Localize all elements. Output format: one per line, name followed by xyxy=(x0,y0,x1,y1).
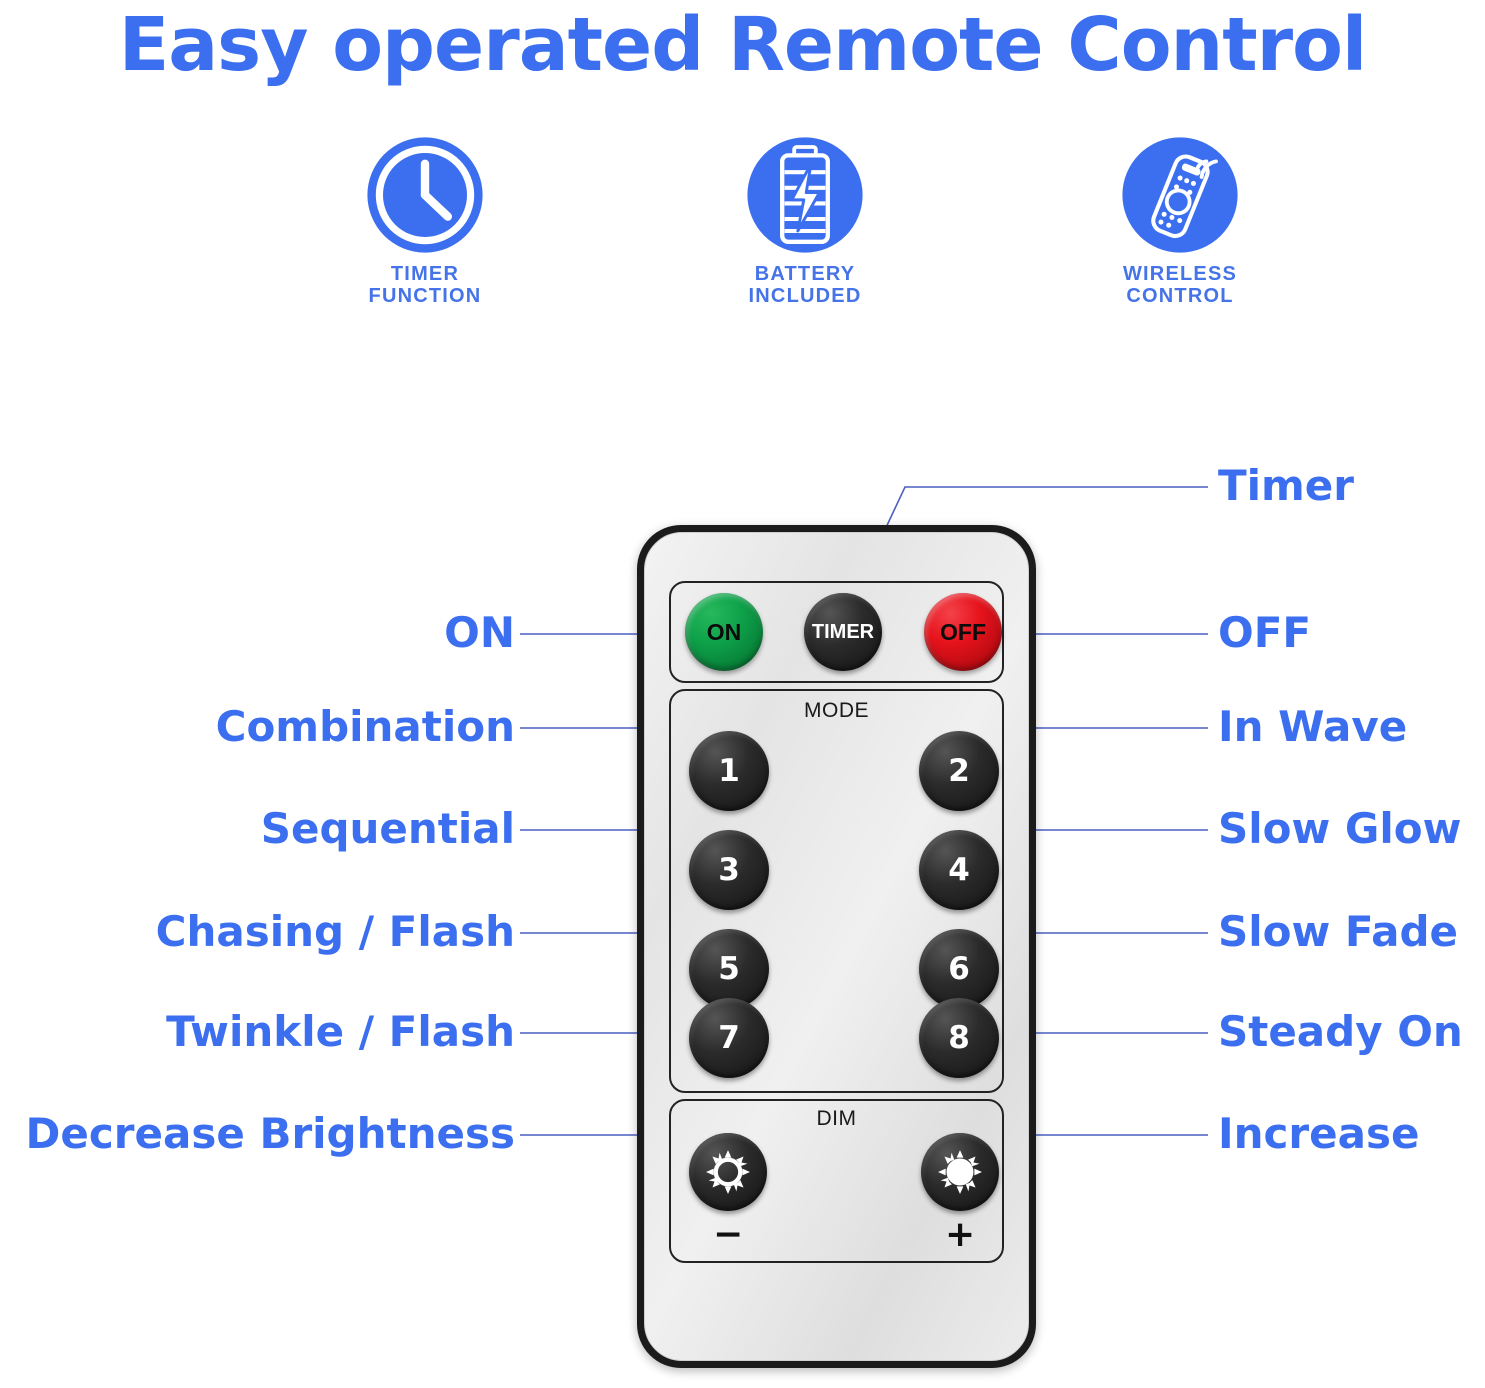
callout-chasing-flash: Chasing / Flash xyxy=(20,911,515,953)
callout-sequential: Sequential xyxy=(20,808,515,850)
remote-icon xyxy=(1120,135,1240,255)
feature-timer-line1: TIMER xyxy=(391,263,459,285)
increase-brightness-button[interactable] xyxy=(921,1133,999,1211)
feature-wireless-line2: CONTROL xyxy=(1126,285,1233,307)
feature-timer-label: TIMER FUNCTION xyxy=(275,263,575,308)
infographic-canvas: Easy operated Remote Control TIMER FUNCT… xyxy=(0,0,1485,1388)
callout-in-wave: In Wave xyxy=(1218,706,1407,748)
battery-icon xyxy=(745,135,865,255)
remote-control: ON TIMER OFF MODE 1 2 3 4 xyxy=(637,525,1036,1368)
mode-button-1-label: 1 xyxy=(718,753,740,789)
decrease-brightness-button[interactable] xyxy=(689,1133,767,1211)
dim-panel: DIM xyxy=(669,1099,1004,1263)
callout-on: ON xyxy=(20,612,515,654)
callout-twinkle-flash: Twinkle / Flash xyxy=(20,1011,515,1053)
power-panel: ON TIMER OFF xyxy=(669,581,1004,683)
mode-button-5-label: 5 xyxy=(718,951,740,987)
feature-timer-line2: FUNCTION xyxy=(369,285,482,307)
callout-increase: Increase xyxy=(1218,1113,1419,1155)
feature-battery-included: BATTERY INCLUDED xyxy=(655,135,955,308)
decrease-sign: − xyxy=(713,1217,743,1253)
mode-panel: MODE 1 2 3 4 5 6 7 8 xyxy=(669,689,1004,1093)
mode-button-3-label: 3 xyxy=(718,852,740,888)
callout-decrease-brightness: Decrease Brightness xyxy=(0,1113,515,1155)
feature-wireless-line1: WIRELESS xyxy=(1123,263,1237,285)
callout-off: OFF xyxy=(1218,612,1311,654)
callout-combination: Combination xyxy=(20,706,515,748)
callout-slow-glow: Slow Glow xyxy=(1218,808,1461,850)
remote-faceplate: ON TIMER OFF MODE 1 2 3 4 xyxy=(644,532,1029,1361)
feature-timer-function: TIMER FUNCTION xyxy=(275,135,575,308)
dim-signs: − + xyxy=(671,1217,1002,1251)
on-button-label: ON xyxy=(707,619,742,646)
mode-button-4[interactable]: 4 xyxy=(919,830,999,910)
off-button-label: OFF xyxy=(940,619,986,646)
mode-button-7[interactable]: 7 xyxy=(689,998,769,1078)
mode-button-3[interactable]: 3 xyxy=(689,830,769,910)
increase-sign: + xyxy=(945,1217,975,1253)
sun-bright-icon xyxy=(933,1145,987,1199)
sun-dim-icon xyxy=(701,1145,755,1199)
mode-button-8-label: 8 xyxy=(948,1020,970,1056)
mode-caption: MODE xyxy=(671,699,1002,723)
timer-button-label: TIMER xyxy=(812,621,874,644)
mode-button-2-label: 2 xyxy=(948,753,970,789)
mode-button-6[interactable]: 6 xyxy=(919,929,999,1009)
callout-timer: Timer xyxy=(1218,465,1354,507)
mode-button-6-label: 6 xyxy=(948,951,970,987)
dim-caption: DIM xyxy=(671,1107,1002,1131)
feature-battery-line1: BATTERY xyxy=(755,263,856,285)
mode-button-4-label: 4 xyxy=(948,852,970,888)
mode-button-7-label: 7 xyxy=(718,1020,740,1056)
feature-wireless-label: WIRELESS CONTROL xyxy=(1030,263,1330,308)
mode-button-2[interactable]: 2 xyxy=(919,731,999,811)
clock-icon xyxy=(365,135,485,255)
callout-slow-fade: Slow Fade xyxy=(1218,911,1458,953)
on-button[interactable]: ON xyxy=(685,593,763,671)
feature-battery-line2: INCLUDED xyxy=(749,285,862,307)
page-title: Easy operated Remote Control xyxy=(0,2,1485,88)
mode-button-5[interactable]: 5 xyxy=(689,929,769,1009)
feature-wireless-control: WIRELESS CONTROL xyxy=(1030,135,1330,308)
off-button[interactable]: OFF xyxy=(924,593,1002,671)
mode-button-8[interactable]: 8 xyxy=(919,998,999,1078)
feature-battery-label: BATTERY INCLUDED xyxy=(655,263,955,308)
mode-button-1[interactable]: 1 xyxy=(689,731,769,811)
callout-steady-on: Steady On xyxy=(1218,1011,1463,1053)
timer-button[interactable]: TIMER xyxy=(804,593,882,671)
